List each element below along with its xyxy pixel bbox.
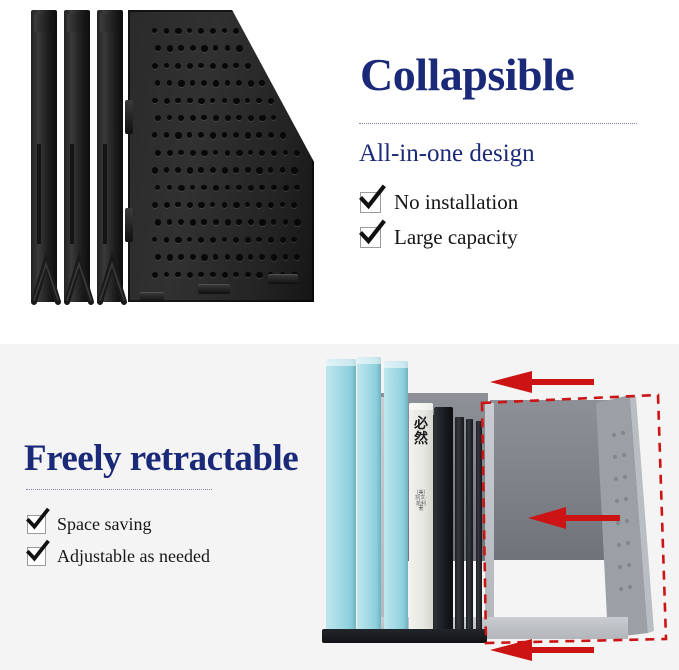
perforation-hole — [256, 167, 262, 173]
book-spine-author: （美）凯文·凯利 著 — [413, 491, 428, 512]
foot-tab — [198, 284, 230, 294]
perforation-hole — [210, 132, 216, 138]
perforation-hole — [167, 115, 172, 120]
perforation-hole — [164, 167, 169, 172]
perforation-hole — [187, 98, 193, 104]
book-item — [357, 357, 381, 639]
feature-item: No installation — [360, 190, 518, 215]
perforation-hole — [201, 219, 206, 224]
perforation-hole — [152, 63, 158, 69]
arrow-left-icon — [490, 371, 596, 393]
perforation-hole — [198, 63, 203, 68]
perforation-hole — [190, 115, 196, 121]
perforation-hole — [178, 254, 183, 259]
subtitle-all-in-one: All-in-one design — [359, 140, 535, 168]
perforation-hole — [256, 98, 262, 104]
perforation-hole — [213, 150, 218, 155]
retractable-scene: 必然 （美）凯文·凯利 著 — [300, 345, 679, 670]
perforation-hole — [210, 98, 215, 103]
perforation-hole — [268, 202, 274, 208]
perforation-hole — [175, 202, 180, 207]
book-item — [326, 359, 356, 639]
perforation-hole — [175, 63, 181, 69]
perforation-hole — [271, 254, 277, 260]
check-glyph-icon — [26, 541, 49, 564]
perforation-hole — [280, 167, 286, 173]
perforation-hole — [291, 237, 296, 242]
checkbox-checked-icon — [27, 515, 46, 534]
book-item-titled: 必然 （美）凯文·凯利 著 — [409, 403, 433, 639]
perforation-hole — [190, 254, 196, 260]
perforation-hole — [259, 80, 264, 85]
perforation-hole — [283, 150, 288, 155]
base-tray — [322, 629, 487, 643]
perforation-hole — [233, 98, 239, 104]
perforation-hole — [213, 45, 218, 50]
perforation-hole — [248, 219, 254, 225]
book-top-edge — [357, 357, 381, 364]
perforation-hole — [271, 115, 276, 120]
perforation-hole — [225, 45, 231, 51]
perforation-hole — [190, 45, 196, 51]
book-spine-title: 必然 — [414, 417, 428, 446]
perforation-hole — [155, 80, 160, 85]
product-photo-folded — [24, 8, 334, 308]
perforation-hole — [268, 237, 274, 243]
perforation-hole — [222, 98, 228, 104]
perforation-hole — [201, 185, 207, 191]
perforation-hole — [175, 167, 181, 173]
perforation-hole — [225, 185, 230, 190]
perforation-hole — [198, 272, 203, 277]
perforation-hole — [271, 150, 277, 156]
perforation-hole — [245, 202, 250, 207]
perforation-hole — [222, 272, 228, 278]
perforation-hole — [152, 98, 158, 104]
checkbox-checked-icon — [360, 192, 381, 213]
perforation-hole — [259, 254, 265, 260]
perforation-hole — [210, 167, 216, 173]
feature-item: Large capacity — [360, 225, 518, 250]
perforation-hole — [164, 202, 170, 208]
perforation-hole — [233, 202, 239, 208]
perforation-hole — [225, 80, 230, 85]
perforation-hole — [201, 150, 207, 156]
perforation-hole — [175, 132, 181, 138]
perforation-hole — [222, 132, 227, 137]
perforation-hole — [271, 185, 277, 191]
feature-label: No installation — [394, 190, 518, 215]
check-glyph-icon — [26, 509, 49, 532]
perforation-hole — [155, 115, 161, 121]
perforation-hole — [152, 272, 158, 278]
perforation-hole — [233, 167, 238, 172]
perforation-hole — [256, 202, 262, 208]
perforation-hole — [167, 45, 173, 51]
perforation-hole — [271, 219, 276, 224]
perforation-hole — [155, 254, 161, 260]
perforation-hole — [210, 28, 216, 34]
perforation-hole — [175, 272, 181, 278]
feature-label: Space saving — [57, 514, 151, 535]
perforation-hole — [210, 237, 216, 243]
perforation-hole — [225, 254, 231, 260]
perforation-hole — [190, 219, 196, 225]
perforation-hole — [280, 237, 286, 243]
perforation-hole — [294, 219, 300, 225]
book-top-edge — [409, 403, 433, 410]
perforation-hole — [190, 185, 195, 190]
perforation-hole — [164, 28, 170, 34]
perforation-hole — [233, 63, 238, 68]
perforation-hole — [283, 219, 289, 225]
perforation-hole — [164, 237, 170, 243]
perforation-hole — [213, 219, 219, 225]
perforation-hole — [178, 45, 183, 50]
perforation-hole — [152, 202, 158, 208]
page-title-retractable: Freely retractable — [24, 440, 298, 477]
perforation-hole — [210, 202, 215, 207]
perforation-hole — [187, 28, 192, 33]
perforation-hole — [198, 237, 204, 243]
check-glyph-icon — [359, 186, 385, 212]
perforation-hole — [280, 202, 285, 207]
feature-list-top: No installation Large capacity — [360, 190, 518, 260]
perforation-hole — [222, 237, 227, 242]
perforation-hole — [259, 219, 265, 225]
panel-collapsible: Collapsible All-in-one design No install… — [0, 0, 679, 344]
perforation-hole — [245, 132, 251, 138]
perforation-hole — [245, 98, 250, 103]
perforation-hole — [201, 80, 207, 86]
feature-list-bottom: Space saving Adjustable as needed — [27, 514, 210, 578]
perforation-hole — [236, 219, 241, 224]
perforation-hole — [248, 150, 253, 155]
perforation-hole — [233, 28, 239, 34]
perforation-hole — [245, 237, 251, 243]
perforation-hole — [190, 150, 196, 156]
perforation-hole — [152, 28, 157, 33]
perforation-hole — [167, 150, 173, 156]
feature-item: Adjustable as needed — [27, 546, 210, 567]
perforation-hole — [280, 132, 286, 138]
perforation-hole — [201, 254, 207, 260]
perforation-hole — [268, 167, 273, 172]
perforation-hole — [245, 63, 251, 69]
perforation-hole — [198, 167, 203, 172]
perforation-hole — [213, 254, 218, 259]
perforation-hole — [175, 237, 181, 243]
perforation-hole — [164, 272, 169, 277]
perforation-hole — [213, 185, 219, 191]
perforation-hole — [198, 202, 204, 208]
perforation-hole — [283, 254, 288, 259]
divider-top — [359, 123, 637, 124]
perforation-hole — [201, 45, 207, 51]
perforation-hole — [283, 185, 289, 191]
perforation-hole — [233, 237, 239, 243]
perforation-hole — [164, 132, 170, 138]
perforation-hole — [248, 254, 253, 259]
perforation-hole — [152, 167, 158, 173]
perforation-hole — [167, 254, 173, 260]
perforation-hole — [268, 132, 274, 138]
perforation-hole — [256, 237, 261, 242]
arrow-left-icon — [528, 507, 620, 529]
book-item — [434, 407, 453, 639]
perforation-hole — [213, 80, 219, 86]
perforation-hole — [167, 185, 173, 191]
perforation-hole — [294, 185, 299, 190]
arrow-left-icon — [490, 639, 596, 661]
perforation-hole — [164, 63, 169, 68]
hinge-clip — [125, 100, 133, 134]
perforation-hole — [256, 132, 261, 137]
foot-tab — [140, 292, 164, 302]
perforation-hole — [178, 80, 184, 86]
perforation-hole — [201, 115, 206, 120]
perforation-hole — [164, 98, 170, 104]
divider-blade — [466, 419, 473, 639]
perforation-hole — [187, 237, 192, 242]
perforation-hole — [187, 202, 193, 208]
checkbox-checked-icon — [360, 227, 381, 248]
perforation-hole — [233, 272, 238, 277]
perforation-hole — [198, 98, 204, 104]
perforation-hole — [248, 80, 254, 86]
feature-label: Large capacity — [394, 225, 518, 250]
perforation-hole — [245, 167, 251, 173]
foot-tab — [268, 274, 298, 284]
page-title-collapsible: Collapsible — [360, 52, 574, 98]
perforation-hole — [294, 254, 300, 260]
perforation-hole — [178, 150, 183, 155]
divider-bottom — [26, 489, 212, 490]
folded-stack — [24, 8, 334, 308]
hinge-clip — [125, 208, 133, 242]
perforation-hole — [233, 132, 239, 138]
feature-label: Adjustable as needed — [57, 546, 210, 567]
divider-blade — [455, 417, 464, 639]
perforation-hole — [236, 45, 242, 51]
book-top-edge — [326, 359, 356, 366]
product-photo-retractable: 必然 （美）凯文·凯利 著 — [300, 345, 679, 670]
perforation-hole — [259, 150, 265, 156]
perforation-hole — [236, 185, 242, 191]
perforation-hole — [187, 272, 193, 278]
perforation-hole — [236, 80, 242, 86]
perforation-hole — [294, 150, 300, 156]
perforation-hole — [178, 185, 184, 191]
perforated-side-panel — [128, 10, 314, 302]
perforation-hole — [155, 150, 161, 156]
perforation-hole — [248, 115, 254, 121]
perforation-hole — [222, 28, 227, 33]
perforation-hole — [245, 272, 251, 278]
perforation-hole — [210, 63, 216, 69]
perforation-hole — [178, 115, 184, 121]
perforation-hole — [225, 115, 231, 121]
perforation-hole — [225, 219, 231, 225]
perforation-hole — [152, 237, 157, 242]
perforation-hole — [155, 185, 160, 190]
perforation-hole — [256, 272, 262, 278]
perforation-hole — [175, 98, 180, 103]
perforation-hole — [236, 115, 241, 120]
perforation-hole — [291, 202, 297, 208]
perforation-hole — [190, 80, 195, 85]
perforation-hole — [155, 219, 161, 225]
perforation-hole — [167, 80, 173, 86]
perforation-hole — [291, 167, 297, 173]
perforation-hole — [225, 150, 231, 156]
perforation-hole — [222, 167, 228, 173]
perforation-hole — [236, 254, 242, 260]
infographic-page: Collapsible All-in-one design No install… — [0, 0, 679, 670]
checkbox-checked-icon — [27, 547, 46, 566]
perforation-hole — [198, 132, 204, 138]
perforation-hole — [155, 45, 161, 51]
feature-item: Space saving — [27, 514, 210, 535]
perforation-hole — [222, 202, 228, 208]
perforation-hole — [236, 150, 242, 156]
perforation-hole — [187, 167, 193, 173]
perforation-hole — [259, 115, 265, 121]
perforation-hole — [187, 132, 192, 137]
perforation-hole — [167, 219, 172, 224]
check-glyph-icon — [359, 221, 385, 247]
book-top-edge — [384, 361, 408, 368]
perforation-pattern — [128, 10, 314, 302]
perforation-hole — [259, 185, 264, 190]
perforation-hole — [178, 219, 184, 225]
perforation-hole — [268, 98, 274, 104]
perforation-hole — [187, 63, 193, 69]
book-item — [384, 361, 408, 639]
perforation-hole — [210, 272, 216, 278]
perforation-hole — [152, 132, 157, 137]
perforation-hole — [222, 63, 228, 69]
perforation-hole — [175, 28, 181, 34]
perforation-hole — [248, 185, 254, 191]
perforation-hole — [213, 115, 219, 121]
perforation-hole — [198, 28, 204, 34]
